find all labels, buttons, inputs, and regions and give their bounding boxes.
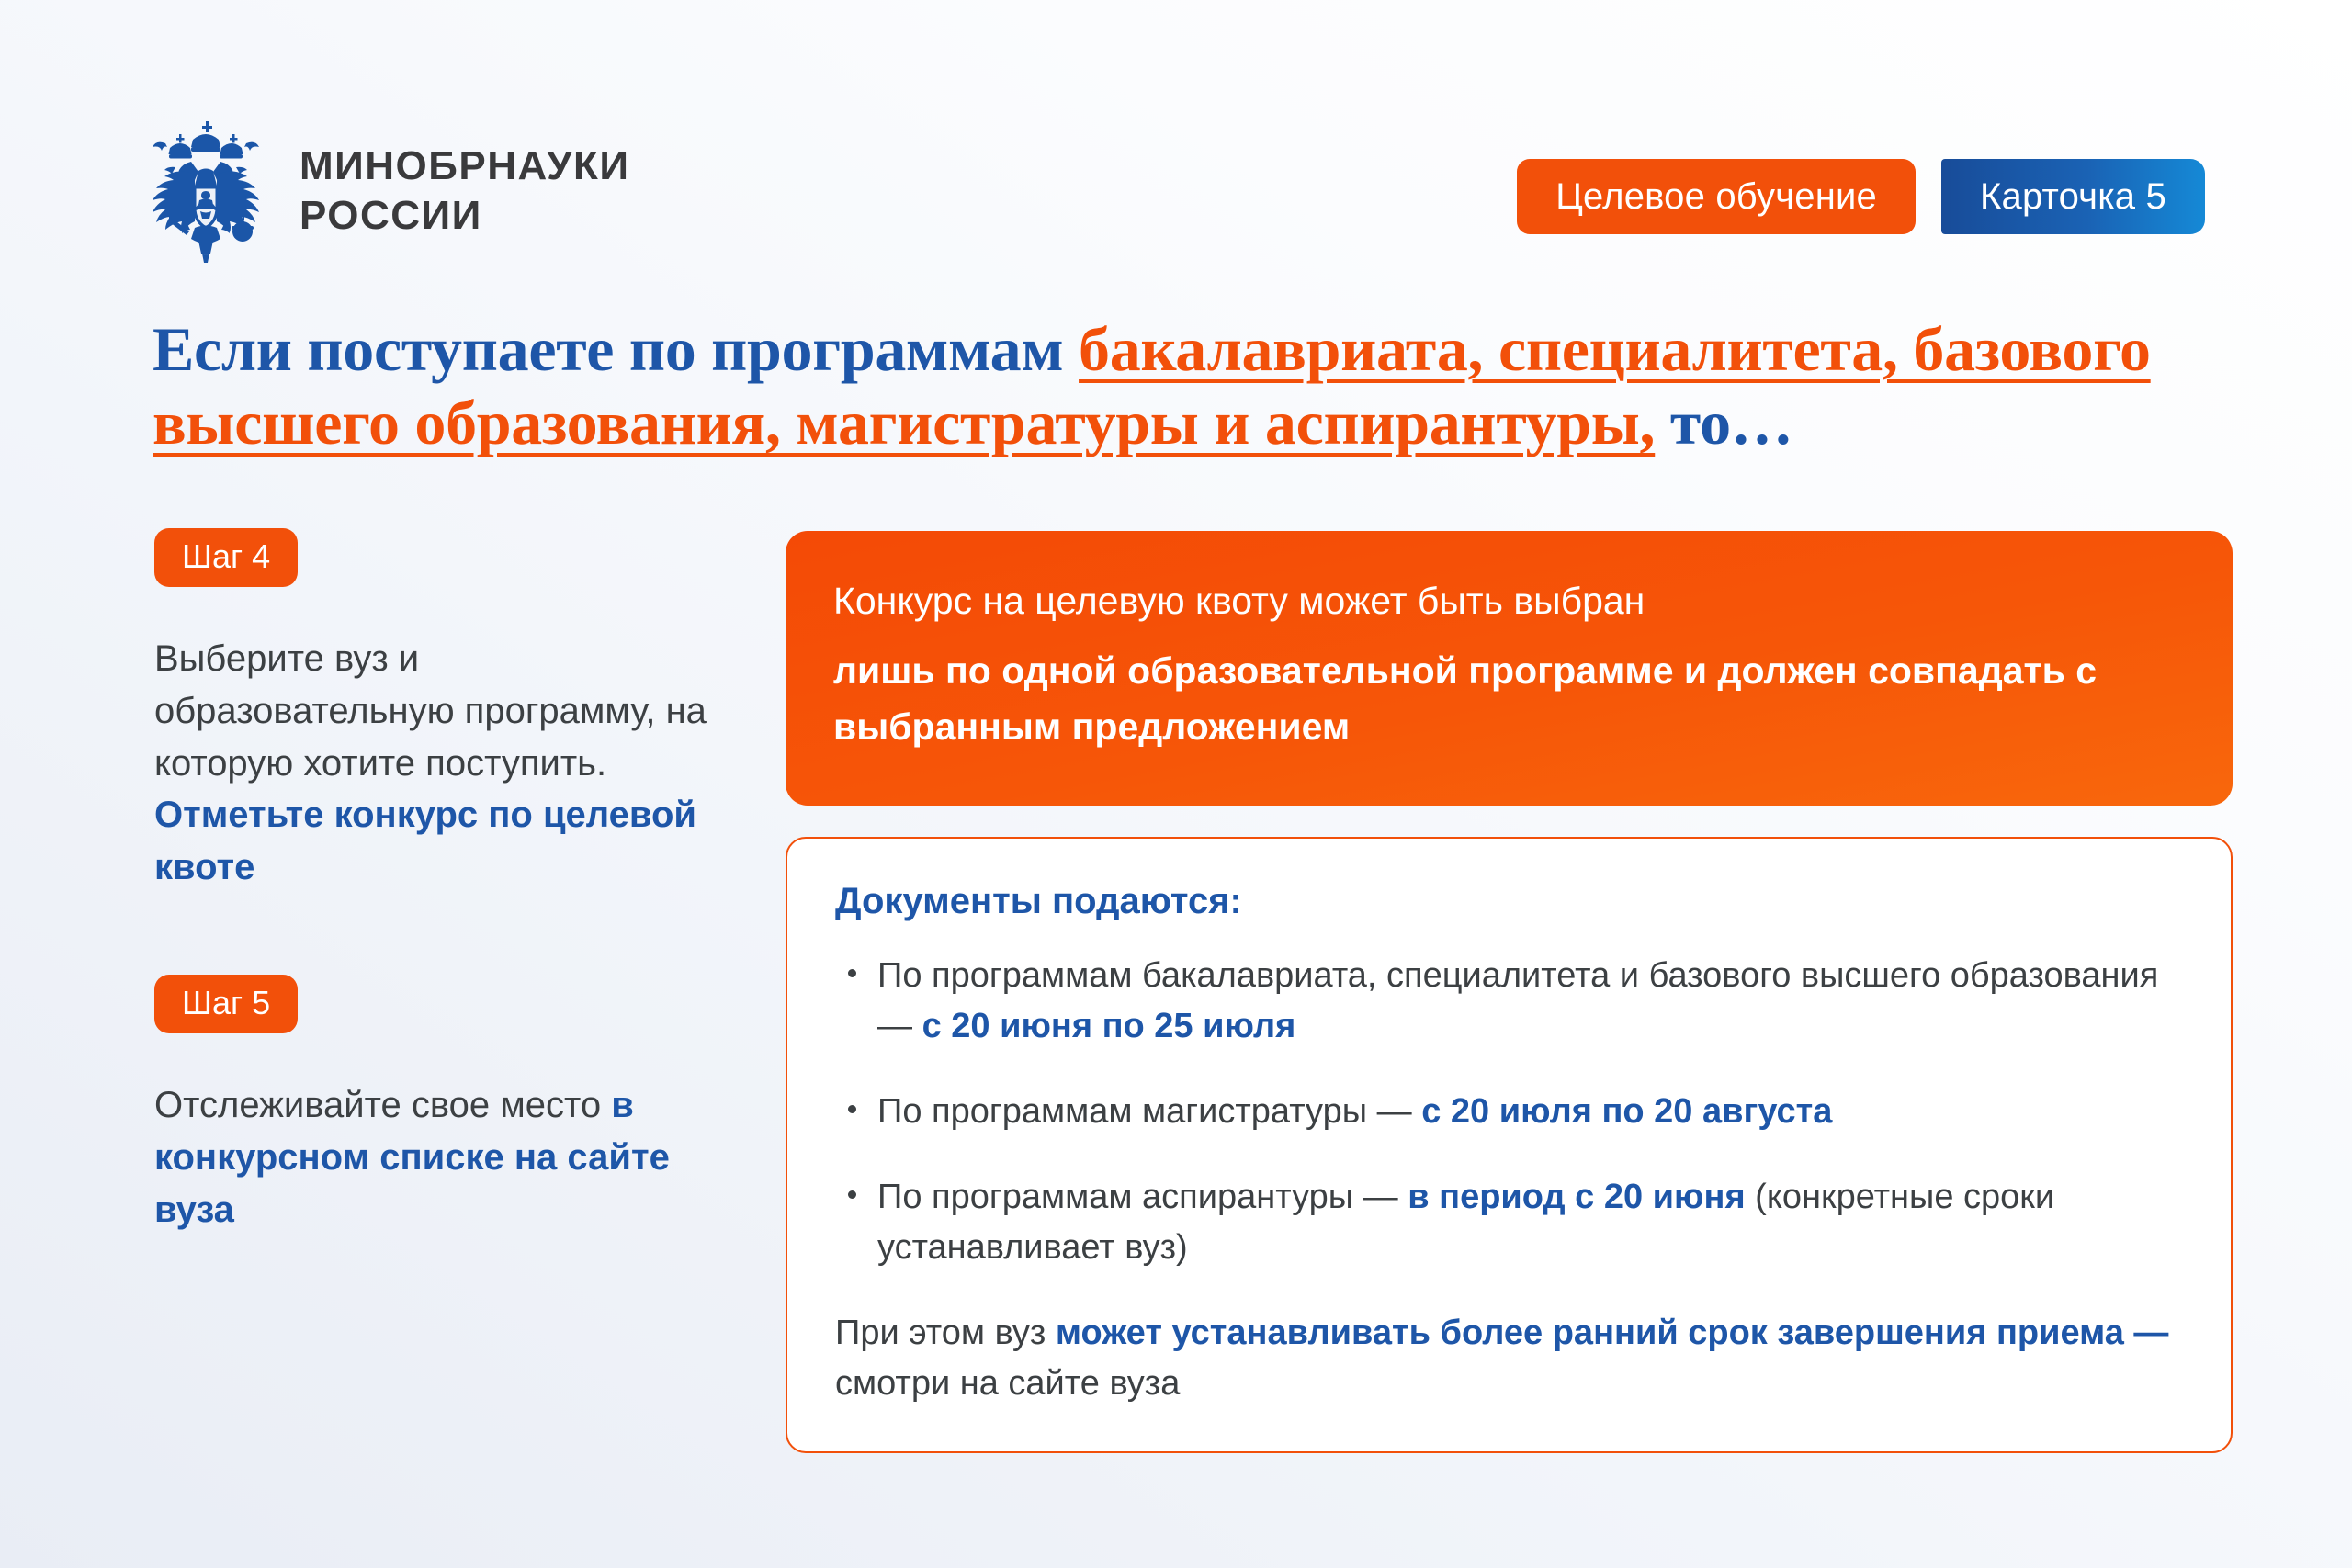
step-4-body: Выберите вуз и образовательную программу… bbox=[154, 633, 724, 894]
note-highlight: может устанавливать более ранний срок за… bbox=[1056, 1314, 2169, 1352]
step-5-text: Отслеживайте свое место bbox=[154, 1085, 611, 1125]
note-end: смотри на сайте вуза bbox=[835, 1364, 1180, 1403]
ministry-name-line2: РОССИИ bbox=[300, 191, 629, 241]
headline-part-blue-start: Если поступаете по программам bbox=[153, 314, 1079, 384]
details-column: Конкурс на целевую квоту может быть выбр… bbox=[786, 531, 2233, 1453]
step-4-text: Выберите вуз и образовательную программу… bbox=[154, 638, 707, 784]
step-5-pill: Шаг 5 bbox=[154, 975, 298, 1033]
ministry-name-line1: МИНОБРНАУКИ bbox=[300, 141, 629, 191]
note-start: При этом вуз bbox=[835, 1314, 1056, 1352]
badge-topic: Целевое обучение bbox=[1517, 159, 1916, 234]
quota-callout-line1: Конкурс на целевую квоту может быть выбр… bbox=[833, 573, 2185, 630]
bullet-text: По программам аспирантуры — bbox=[877, 1178, 1408, 1216]
documents-deadline-list: По программам бакалавриата, специалитета… bbox=[835, 951, 2183, 1273]
quota-callout-line2: лишь по одной образовательной программе … bbox=[833, 643, 2185, 756]
ministry-name: МИНОБРНАУКИ РОССИИ bbox=[300, 141, 629, 240]
documents-card-note: При этом вуз может устанавливать более р… bbox=[835, 1308, 2183, 1409]
step-5-body: Отслеживайте свое место в конкурсном спи… bbox=[154, 1079, 724, 1235]
bullet-highlight: с 20 июля по 20 августа bbox=[1421, 1092, 1832, 1131]
headline-part-blue-end: то… bbox=[1655, 388, 1792, 457]
list-item: По программам магистратуры — с 20 июля п… bbox=[835, 1087, 2183, 1137]
steps-column: Шаг 4 Выберите вуз и образовательную про… bbox=[154, 528, 724, 1235]
badge-card-number: Карточка 5 bbox=[1941, 159, 2205, 234]
documents-card-title: Документы подаются: bbox=[835, 879, 2183, 923]
bullet-text: По программам магистратуры — bbox=[877, 1092, 1421, 1131]
russian-double-headed-eagle-emblem-icon bbox=[147, 118, 265, 265]
bullet-dot-icon bbox=[848, 969, 856, 977]
step-4-pill: Шаг 4 bbox=[154, 528, 298, 587]
list-item: По программам бакалавриата, специалитета… bbox=[835, 951, 2183, 1052]
quota-callout: Конкурс на целевую квоту может быть выбр… bbox=[786, 531, 2233, 806]
bullet-highlight: с 20 июня по 25 июля bbox=[922, 1007, 1296, 1045]
documents-card: Документы подаются: По программам бакала… bbox=[786, 837, 2233, 1454]
bullet-dot-icon bbox=[848, 1105, 856, 1113]
bullet-highlight: в период с 20 июня bbox=[1408, 1178, 1745, 1216]
list-item: По программам аспирантуры — в период с 2… bbox=[835, 1172, 2183, 1273]
page-title: Если поступаете по программам бакалавриа… bbox=[153, 312, 2229, 459]
page-header: МИНОБРНАУКИ РОССИИ Целевое обучение Карт… bbox=[0, 0, 2352, 276]
step-4-accent: Отметьте конкурс по целевой квоте bbox=[154, 795, 696, 887]
ministry-brand: МИНОБРНАУКИ РОССИИ bbox=[147, 118, 629, 265]
step-4: Шаг 4 Выберите вуз и образовательную про… bbox=[154, 528, 724, 894]
step-5: Шаг 5 Отслеживайте свое место в конкурсн… bbox=[154, 975, 724, 1235]
bullet-dot-icon bbox=[848, 1190, 856, 1199]
header-badges: Целевое обучение Карточка 5 bbox=[1517, 159, 2205, 234]
